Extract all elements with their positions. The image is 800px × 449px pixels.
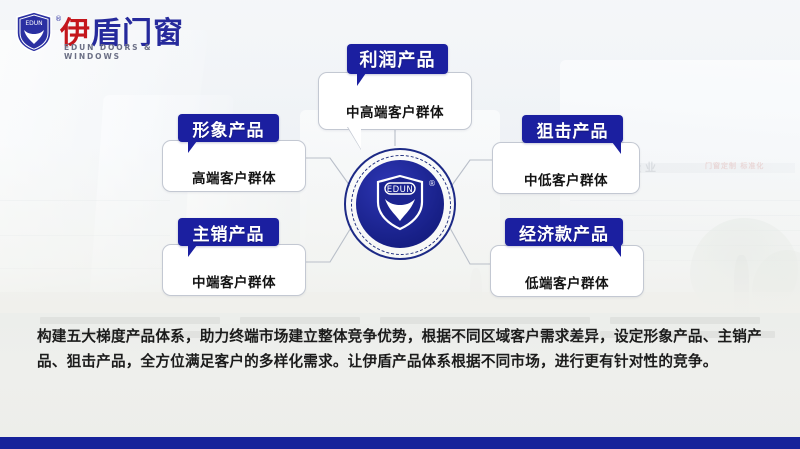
emblem-registered-mark: ®: [428, 179, 436, 188]
shield-logo-icon: EDUN: [14, 11, 54, 53]
callout-tag-sniper[interactable]: 狙击产品: [522, 115, 623, 143]
callout-subtitle-eco: 低端客户群体: [491, 272, 643, 292]
callout-tag-eco[interactable]: 经济款产品: [505, 218, 623, 246]
callout-tag-main[interactable]: 主销产品: [178, 218, 279, 246]
callout-tag-label-image: 形象产品: [193, 116, 265, 141]
emblem-wordmark: EDUN: [387, 185, 414, 195]
callout-subtitle-image: 高端客户群体: [163, 167, 305, 187]
callout-tag-notch-main: [188, 245, 197, 257]
brand-logo: EDUN ® 伊盾门窗 EDUN DOORS & WINDOWS: [14, 9, 189, 57]
footer-paragraph: 构建五大梯度产品体系，助力终端市场建立整体竞争优势，根据不同区域客户需求差异，设…: [37, 324, 767, 374]
footer-panel: 构建五大梯度产品体系，助力终端市场建立整体竞争优势，根据不同区域客户需求差异，设…: [0, 313, 800, 449]
callout-tag-label-profit: 利润产品: [360, 46, 436, 72]
callout-subtitle-main: 中端客户群体: [163, 271, 305, 291]
callout-subtitle-profit: 中高端客户群体: [319, 101, 471, 121]
callout-box-image[interactable]: 高端客户群体: [162, 140, 306, 192]
callout-subtitle-sniper: 中低客户群体: [493, 169, 639, 189]
callout-tag-label-sniper: 狙击产品: [537, 117, 609, 142]
slide-canvas: 特新企业 门窗定制 标准化 EDUN ® 伊盾门窗 EDUN DOORS & W…: [0, 0, 800, 449]
callout-box-profit[interactable]: 中高端客户群体: [318, 72, 472, 130]
callout-tag-notch-profit: [357, 73, 366, 86]
emblem-shield-icon: EDUN: [374, 174, 426, 232]
callout-tag-label-main: 主销产品: [193, 220, 265, 245]
brand-name-en: EDUN DOORS & WINDOWS: [64, 43, 189, 61]
svg-text:EDUN: EDUN: [25, 20, 42, 27]
callout-tail-profit: [348, 127, 361, 149]
callout-box-main[interactable]: 中端客户群体: [162, 244, 306, 296]
callout-tag-notch-sniper: [612, 142, 621, 154]
center-emblem: EDUN ®: [344, 148, 456, 260]
bottom-accent-bar: [0, 437, 800, 449]
callout-tag-image[interactable]: 形象产品: [178, 114, 279, 142]
callout-tag-notch-eco: [612, 245, 621, 257]
connector-eco-to-center: [450, 228, 490, 264]
callout-tag-label-eco: 经济款产品: [519, 220, 609, 245]
connector-sniper-to-center: [450, 160, 492, 188]
callout-tag-profit[interactable]: 利润产品: [347, 44, 448, 74]
callout-tag-notch-image: [188, 141, 197, 153]
